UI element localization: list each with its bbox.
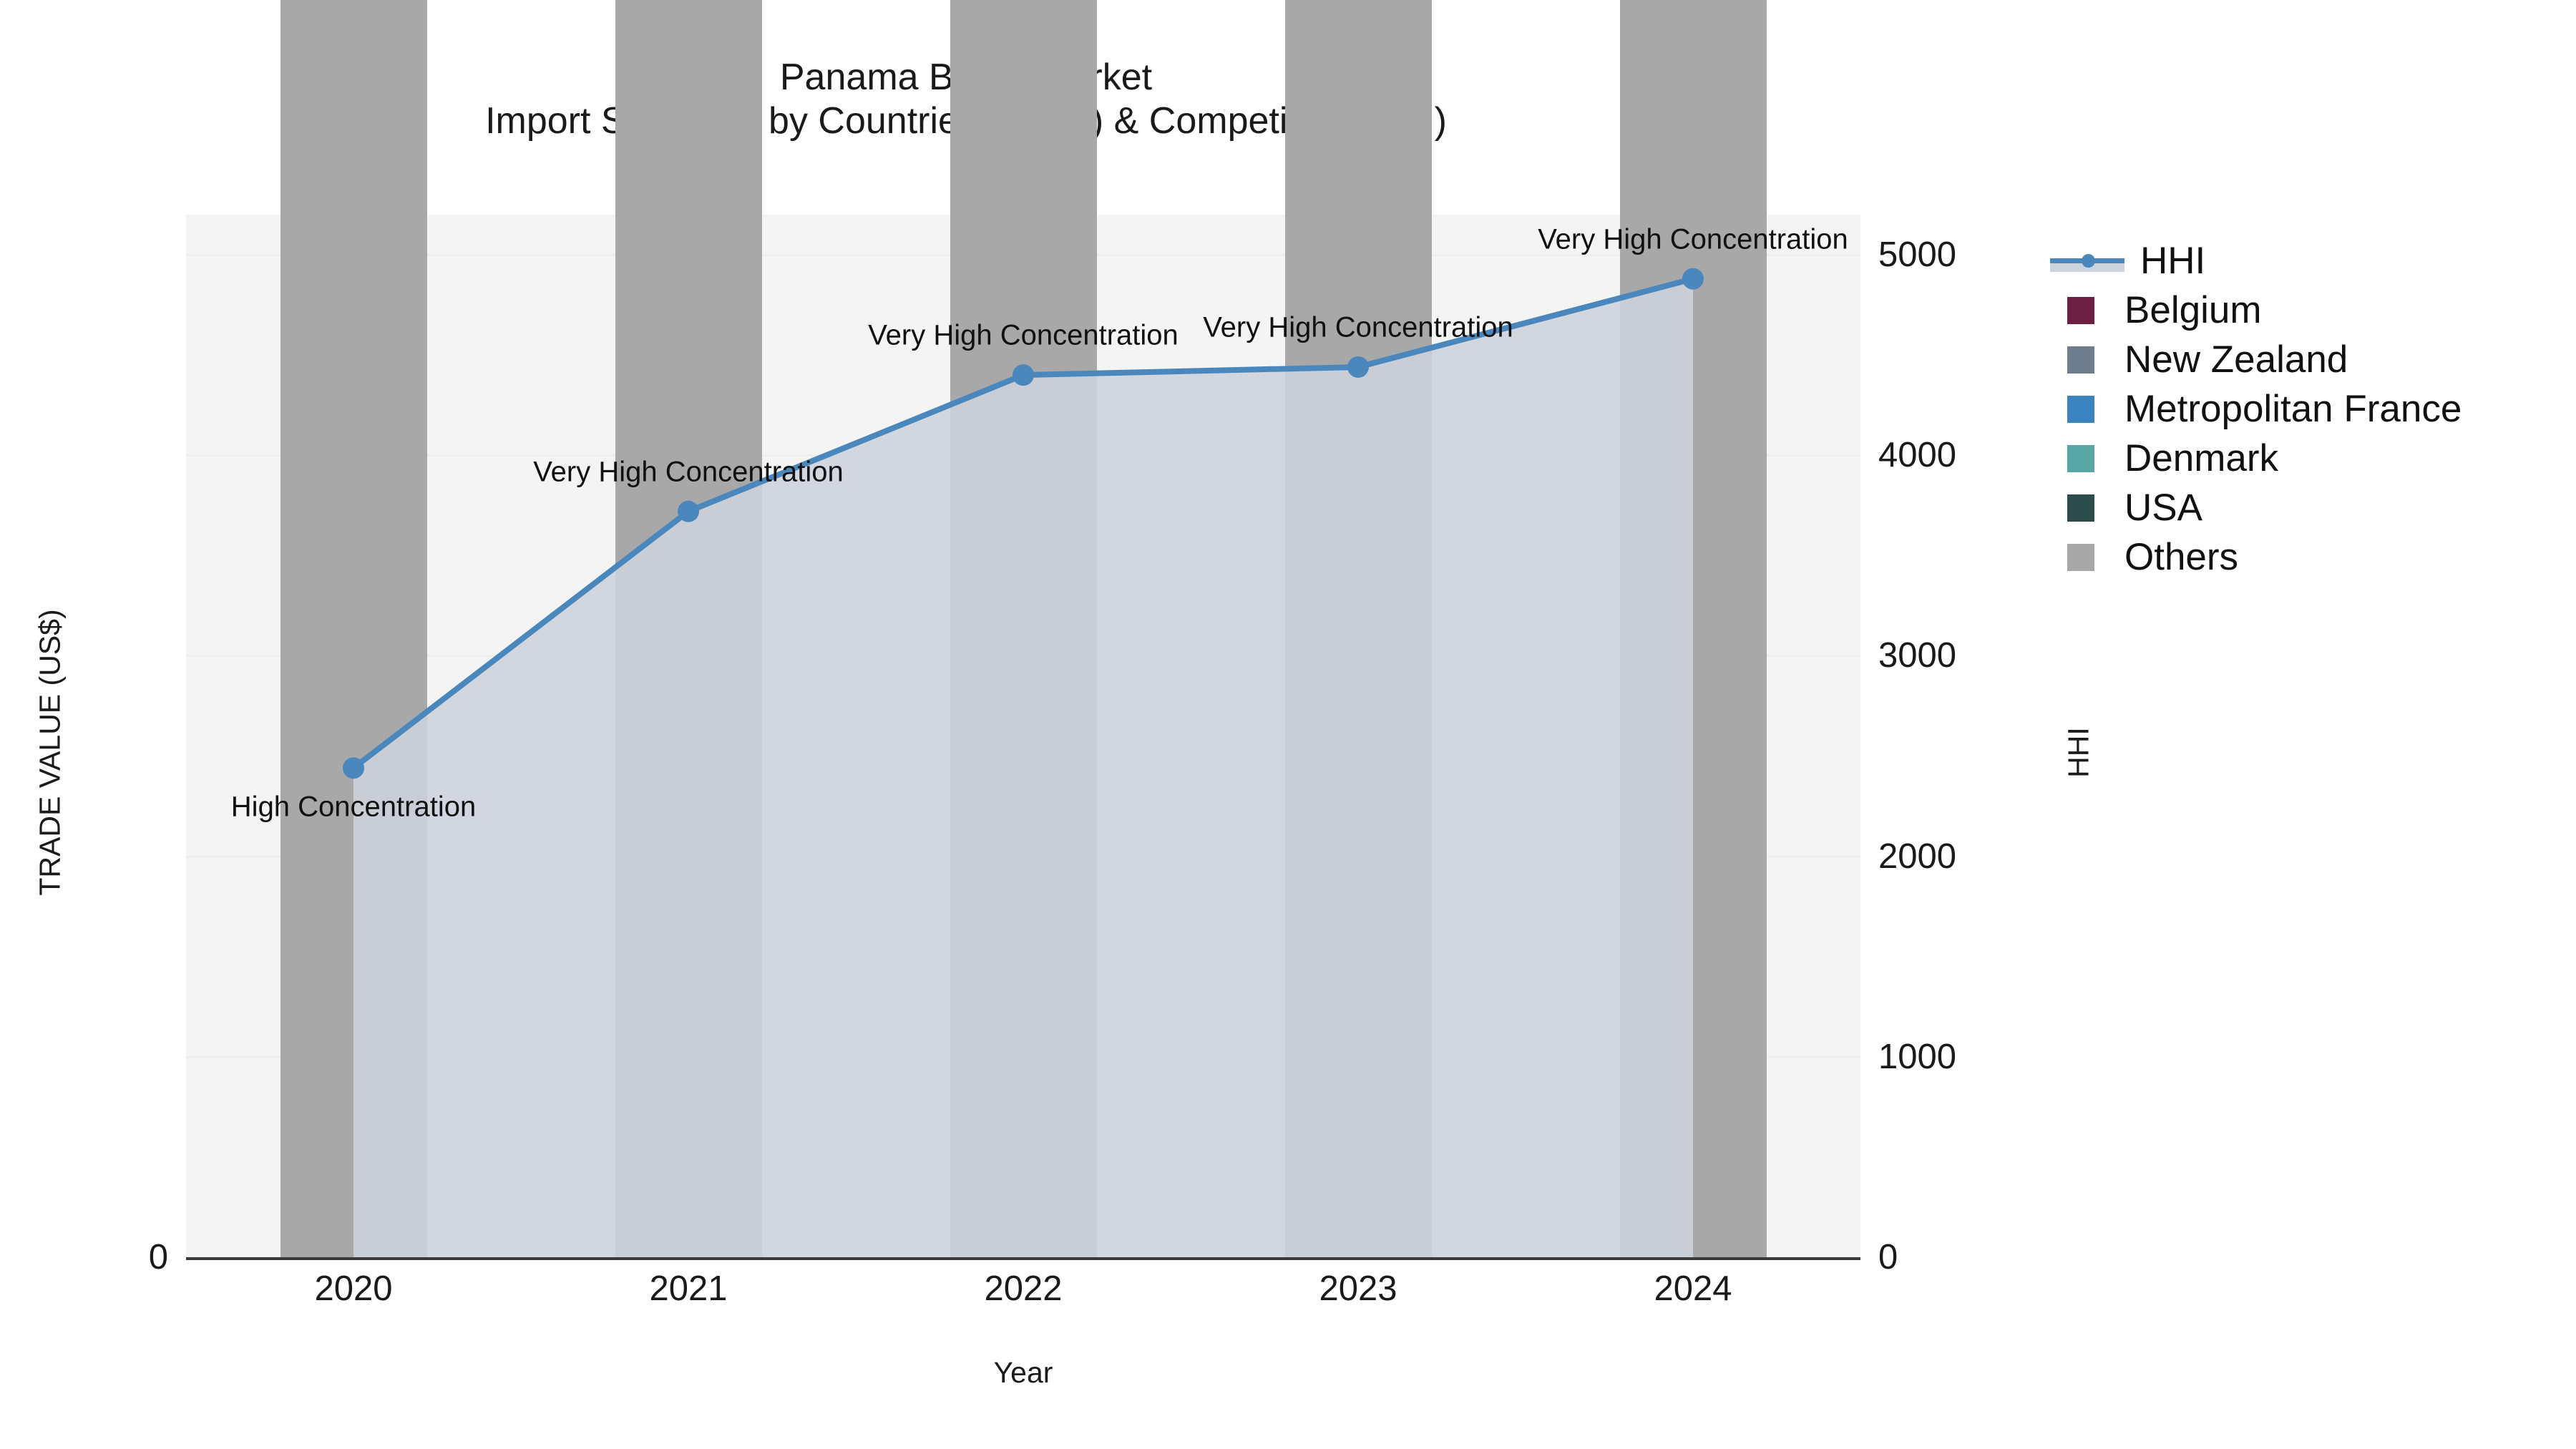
color-swatch-icon xyxy=(2067,297,2094,324)
concentration-label: Very High Concentration xyxy=(533,456,844,488)
color-swatch-icon xyxy=(2067,544,2094,571)
y-tick-right: 4000 xyxy=(1878,435,1956,475)
legend-item-label: Others xyxy=(2124,538,2238,576)
legend-item-belgium[interactable]: Belgium xyxy=(2050,286,2565,335)
concentration-label: Very High Concentration xyxy=(868,320,1179,352)
legend-item-label: New Zealand xyxy=(2124,341,2348,379)
y-tick-right: 1000 xyxy=(1878,1037,1956,1077)
x-tick-2021: 2021 xyxy=(581,1269,796,1309)
legend-item-label: HHI xyxy=(2140,242,2205,280)
concentration-label: High Concentration xyxy=(231,791,476,824)
x-tick-2024: 2024 xyxy=(1586,1269,1800,1309)
legend-item-metropolitan-france[interactable]: Metropolitan France xyxy=(2050,384,2565,434)
legend-item-usa[interactable]: USA xyxy=(2050,483,2565,532)
concentration-annotations: High ConcentrationVery High Concentratio… xyxy=(186,215,1860,1257)
legend-item-label: Denmark xyxy=(2124,439,2278,477)
legend-item-new-zealand[interactable]: New Zealand xyxy=(2050,335,2565,384)
y-tick-right: 2000 xyxy=(1878,836,1956,877)
legend-item-hhi[interactable]: HHI xyxy=(2050,236,2565,286)
line-marker-icon xyxy=(2050,248,2124,275)
color-swatch-icon xyxy=(2067,494,2094,522)
x-tick-2020: 2020 xyxy=(246,1269,461,1309)
y-tick-right: 0 xyxy=(1878,1237,1898,1277)
color-swatch-icon xyxy=(2067,445,2094,472)
legend-item-denmark[interactable]: Denmark xyxy=(2050,434,2565,483)
color-swatch-icon xyxy=(2067,346,2094,374)
legend-item-others[interactable]: Others xyxy=(2050,532,2565,582)
color-swatch-icon xyxy=(2067,396,2094,423)
x-axis-line xyxy=(186,1257,1860,1260)
y-tick-left: 0 xyxy=(149,1237,168,1277)
x-tick-2022: 2022 xyxy=(916,1269,1131,1309)
x-tick-2023: 2023 xyxy=(1251,1269,1465,1309)
y-axis-left-title: TRADE VALUE (US$) xyxy=(34,502,67,1003)
chart-legend: HHIBelgiumNew ZealandMetropolitan France… xyxy=(2050,236,2565,582)
x-axis-title: Year xyxy=(186,1356,1860,1390)
legend-item-label: Belgium xyxy=(2124,291,2261,329)
concentration-label: Very High Concentration xyxy=(1538,223,1848,255)
legend-item-label: USA xyxy=(2124,489,2202,527)
y-tick-right: 5000 xyxy=(1878,235,1956,275)
concentration-label: Very High Concentration xyxy=(1203,311,1513,343)
legend-item-label: Metropolitan France xyxy=(2124,390,2462,428)
y-tick-right: 3000 xyxy=(1878,635,1956,675)
